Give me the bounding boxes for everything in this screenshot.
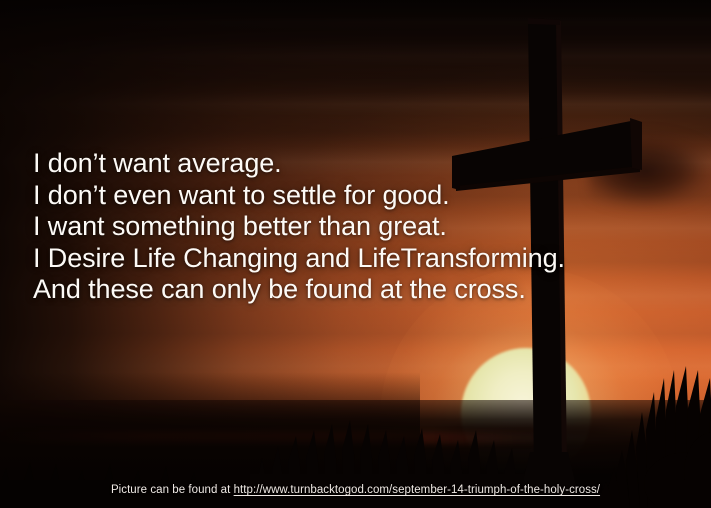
source-caption: Picture can be found at http://www.turnb… — [0, 484, 711, 496]
quote-line-5: And these can only be found at the cross… — [33, 274, 533, 306]
quote-line-4: I Desire Life Changing and LifeTransform… — [33, 243, 533, 275]
quote-text-block: I don’t want average. I don’t even want … — [33, 148, 533, 306]
source-url-link[interactable]: http://www.turnbacktogod.com/september-1… — [234, 484, 600, 496]
quote-poster: I don’t want average. I don’t even want … — [0, 0, 711, 508]
quote-line-2: I don’t even want to settle for good. — [33, 180, 533, 212]
quote-line-1: I don’t want average. — [33, 148, 533, 180]
quote-line-3: I want something better than great. — [33, 211, 533, 243]
caption-prefix: Picture can be found at — [111, 484, 234, 496]
